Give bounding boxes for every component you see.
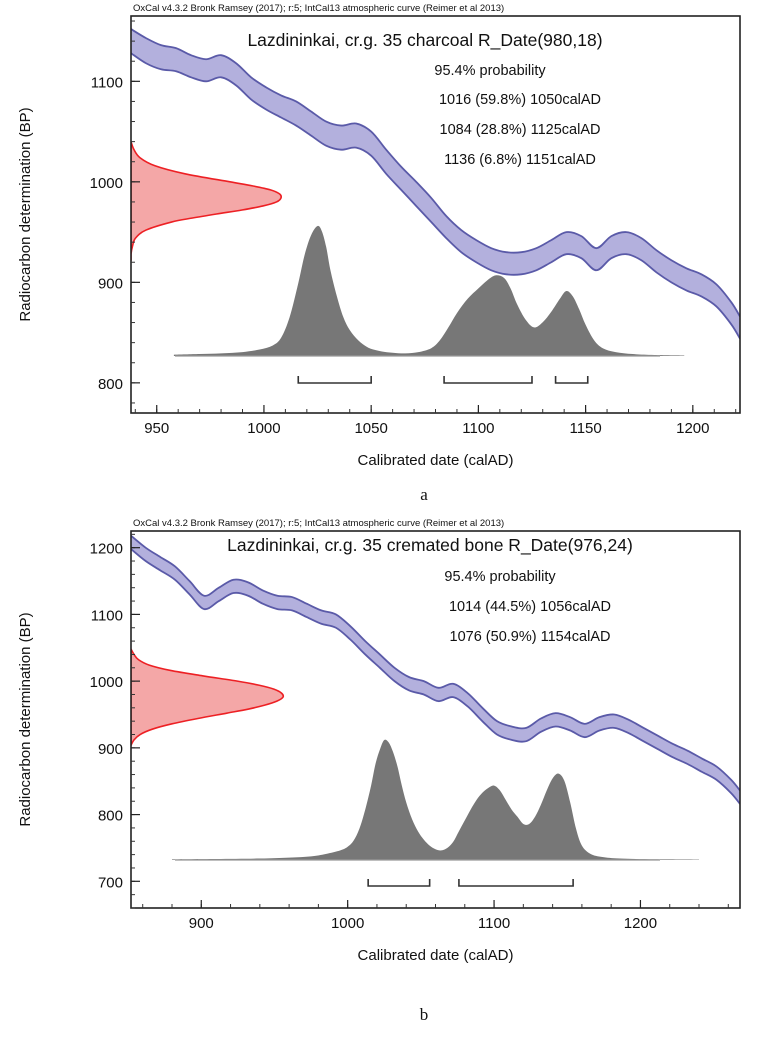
range-bracket [368,879,429,886]
x-tick-label: 1100 [478,915,510,932]
plot-area [131,536,740,860]
y-axis-title: Radiocarbon determination (BP) [17,612,34,826]
radiocarbon-likelihood-distribution [131,649,283,745]
x-tick-label: 1150 [569,420,601,437]
panel-letter: b [420,1005,429,1024]
x-tick-label: 1200 [676,420,709,437]
range-text-line: 1016 (59.8%) 1050calAD [439,92,601,108]
probability-header: 95.4% probability [434,63,546,79]
x-axis-title: Calibrated date (calAD) [358,452,514,469]
y-tick-label: 1000 [90,674,123,691]
y-tick-label: 900 [98,275,123,292]
y-tick-label: 1000 [90,175,123,192]
oxcal-plot-a: OxCal v4.3.2 Bronk Ramsey (2017); r:5; I… [0,0,780,515]
x-tick-label: 950 [144,420,169,437]
range-text-line: 1014 (44.5%) 1056calAD [449,599,611,615]
y-tick-label: 1200 [90,541,123,558]
y-tick-label: 900 [98,741,123,758]
oxcal-credit-line: OxCal v4.3.2 Bronk Ramsey (2017); r:5; I… [133,3,504,14]
posterior-probability-distribution [172,740,699,860]
chart-title: Lazdininkai, cr.g. 35 charcoal R_Date(98… [247,30,602,51]
range-text-line: 1076 (50.9%) 1154calAD [450,629,611,645]
x-tick-label: 1050 [354,420,387,437]
range-text-line: 1084 (28.8%) 1125calAD [440,122,601,138]
range-bracket [444,376,532,383]
range-bracket [459,879,573,886]
range-bracket [556,376,588,383]
x-tick-label: 1000 [331,915,364,932]
calibration-panel-a: OxCal v4.3.2 Bronk Ramsey (2017); r:5; I… [0,0,780,515]
calibration-curve-band [131,536,740,804]
range-bracket-group [368,879,573,886]
y-tick-label: 800 [98,808,123,825]
x-tick-label: 1100 [462,420,494,437]
panel-letter: a [420,485,428,504]
range-bracket-group [298,376,587,383]
x-tick-label: 1200 [624,915,657,932]
oxcal-plot-b: OxCal v4.3.2 Bronk Ramsey (2017); r:5; I… [0,505,780,1043]
calibration-curve-upper [131,536,740,791]
range-bracket [298,376,371,383]
radiocarbon-likelihood-distribution [131,142,281,261]
x-axis-title: Calibrated date (calAD) [358,947,514,964]
x-tick-label: 1000 [247,420,280,437]
y-tick-label: 800 [98,376,123,393]
oxcal-credit-line: OxCal v4.3.2 Bronk Ramsey (2017); r:5; I… [133,518,504,529]
calibration-panel-b: OxCal v4.3.2 Bronk Ramsey (2017); r:5; I… [0,505,780,1043]
chart-title: Lazdininkai, cr.g. 35 cremated bone R_Da… [227,535,633,556]
x-tick-label: 900 [189,915,214,932]
y-axis-title: Radiocarbon determination (BP) [17,107,34,321]
y-tick-label: 700 [98,874,123,891]
y-tick-label: 1100 [91,74,123,91]
probability-header: 95.4% probability [444,569,556,585]
range-text-line: 1136 (6.8%) 1151calAD [444,152,596,168]
y-tick-label: 1100 [91,607,123,624]
